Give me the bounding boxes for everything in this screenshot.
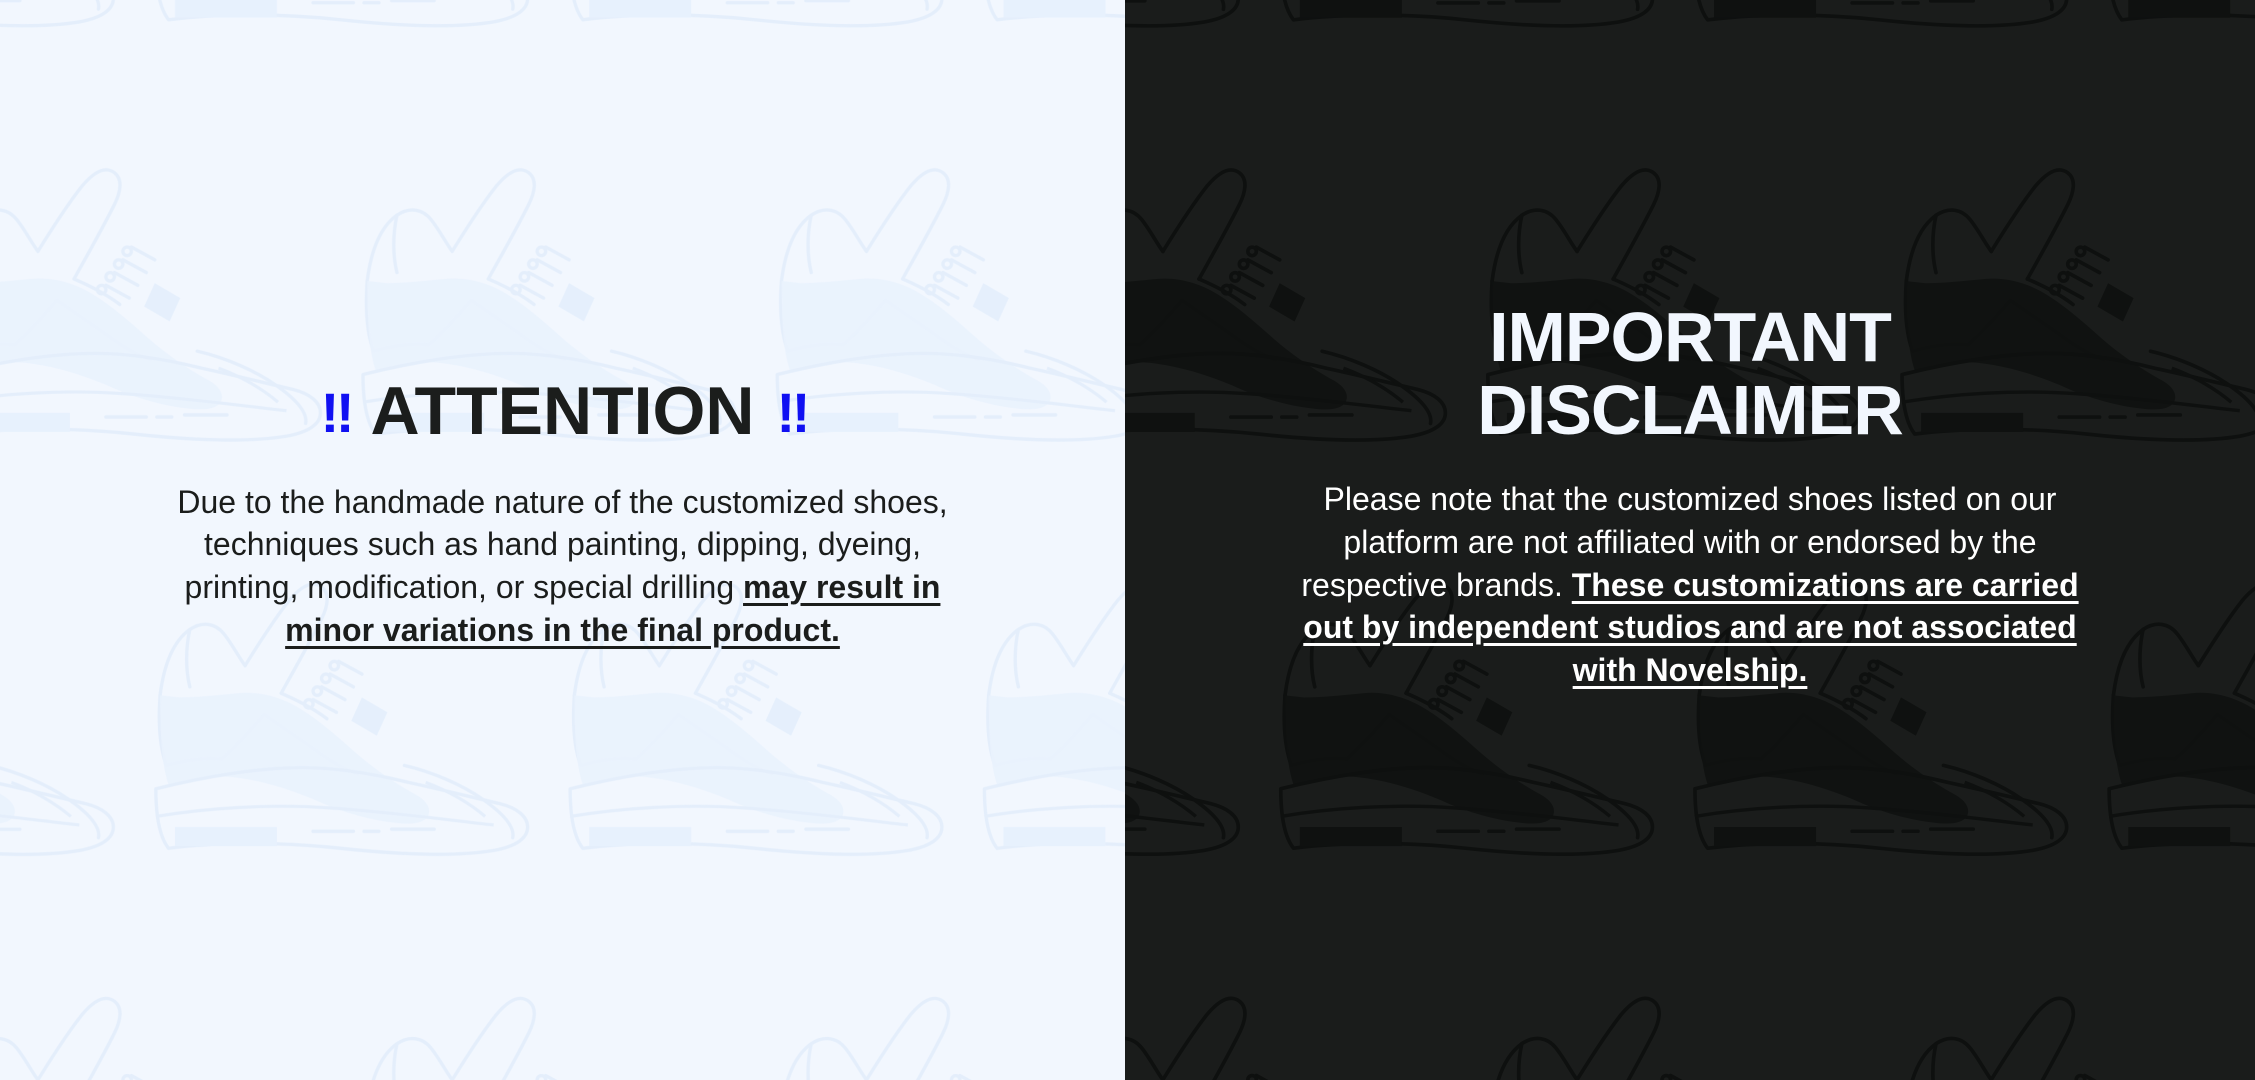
notice-banner: ‼ATTENTION‼ Due to the handmade nature o… (0, 0, 2255, 1080)
double-exclamation-icon-left: ‼ (321, 381, 349, 444)
attention-content: ‼ATTENTION‼ Due to the handmade nature o… (0, 377, 1125, 651)
disclaimer-heading-line-1: IMPORTANT (1165, 301, 2215, 374)
disclaimer-content: IMPORTANT DISCLAIMER Please note that th… (1125, 301, 2255, 691)
attention-panel: ‼ATTENTION‼ Due to the handmade nature o… (0, 0, 1125, 1080)
disclaimer-panel: IMPORTANT DISCLAIMER Please note that th… (1125, 0, 2255, 1080)
double-exclamation-icon-right: ‼ (777, 381, 805, 444)
disclaimer-heading: IMPORTANT DISCLAIMER (1165, 301, 2215, 447)
disclaimer-heading-line-2: DISCLAIMER (1165, 374, 2215, 447)
disclaimer-body: Please note that the customized shoes li… (1290, 478, 2090, 691)
attention-heading-text: ATTENTION (370, 373, 754, 449)
attention-heading: ‼ATTENTION‼ (40, 377, 1085, 445)
attention-body: Due to the handmade nature of the custom… (163, 481, 963, 651)
